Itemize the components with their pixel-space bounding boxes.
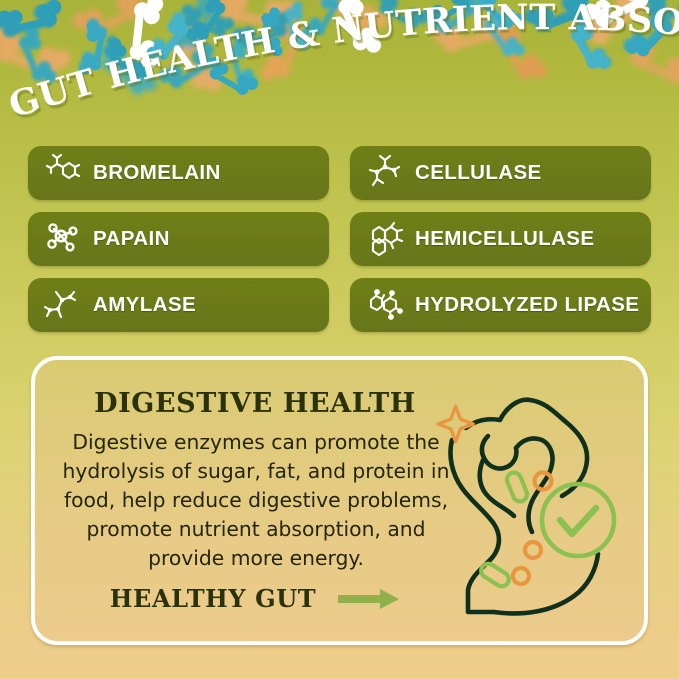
capsule-icon (505, 470, 529, 503)
dog-bone-confetti (0, 0, 679, 120)
molecule-icon (362, 283, 408, 327)
arrow-right-icon (338, 587, 400, 611)
enzyme-label: AMYLASE (93, 293, 196, 317)
bubble-icon (525, 542, 541, 558)
enzyme-label: BROMELAIN (93, 161, 221, 185)
enzyme-pill-hemicellulase[interactable]: HEMICELLULASE (350, 212, 651, 266)
enzyme-label: CELLULASE (415, 161, 542, 185)
enzyme-pill-cellulase[interactable]: CELLULASE (350, 146, 651, 200)
enzyme-label: PAPAIN (93, 227, 170, 251)
infographic-root: GUT HEALTH & NUTRIENT ABSORPTION BROMELA… (0, 0, 679, 679)
molecule-icon (362, 217, 408, 261)
card-body-text: Digestive enzymes can promote the hydrol… (53, 428, 459, 573)
molecule-icon (40, 217, 86, 261)
header-confetti-band (0, 0, 679, 120)
enzyme-pill-bromelain[interactable]: BROMELAIN (28, 146, 329, 200)
enzyme-pill-hydrolyzed-lipase[interactable]: HYDROLYZED LIPASE (350, 278, 651, 332)
enzyme-pill-papain[interactable]: PAPAIN (28, 212, 329, 266)
digestive-health-card: DIGESTIVE HEALTH Digestive enzymes can p… (31, 356, 648, 645)
cta-label: HEALTHY GUT (110, 584, 316, 613)
healthy-gut-cta[interactable]: HEALTHY GUT (75, 584, 435, 613)
enzyme-list: BROMELAIN CELLULASE (28, 146, 651, 331)
check-icon (560, 508, 596, 534)
molecule-icon (40, 283, 86, 327)
molecule-icon (362, 151, 408, 195)
enzyme-label: HEMICELLULASE (415, 227, 594, 251)
card-heading: DIGESTIVE HEALTH (75, 388, 435, 419)
stomach-gut-icon (430, 384, 630, 630)
enzyme-label: HYDROLYZED LIPASE (415, 293, 639, 317)
bubble-icon (513, 568, 529, 584)
enzyme-pill-amylase[interactable]: AMYLASE (28, 278, 329, 332)
molecule-icon (40, 151, 86, 195)
capsule-icon (479, 561, 512, 589)
check-circle-icon (542, 484, 614, 556)
